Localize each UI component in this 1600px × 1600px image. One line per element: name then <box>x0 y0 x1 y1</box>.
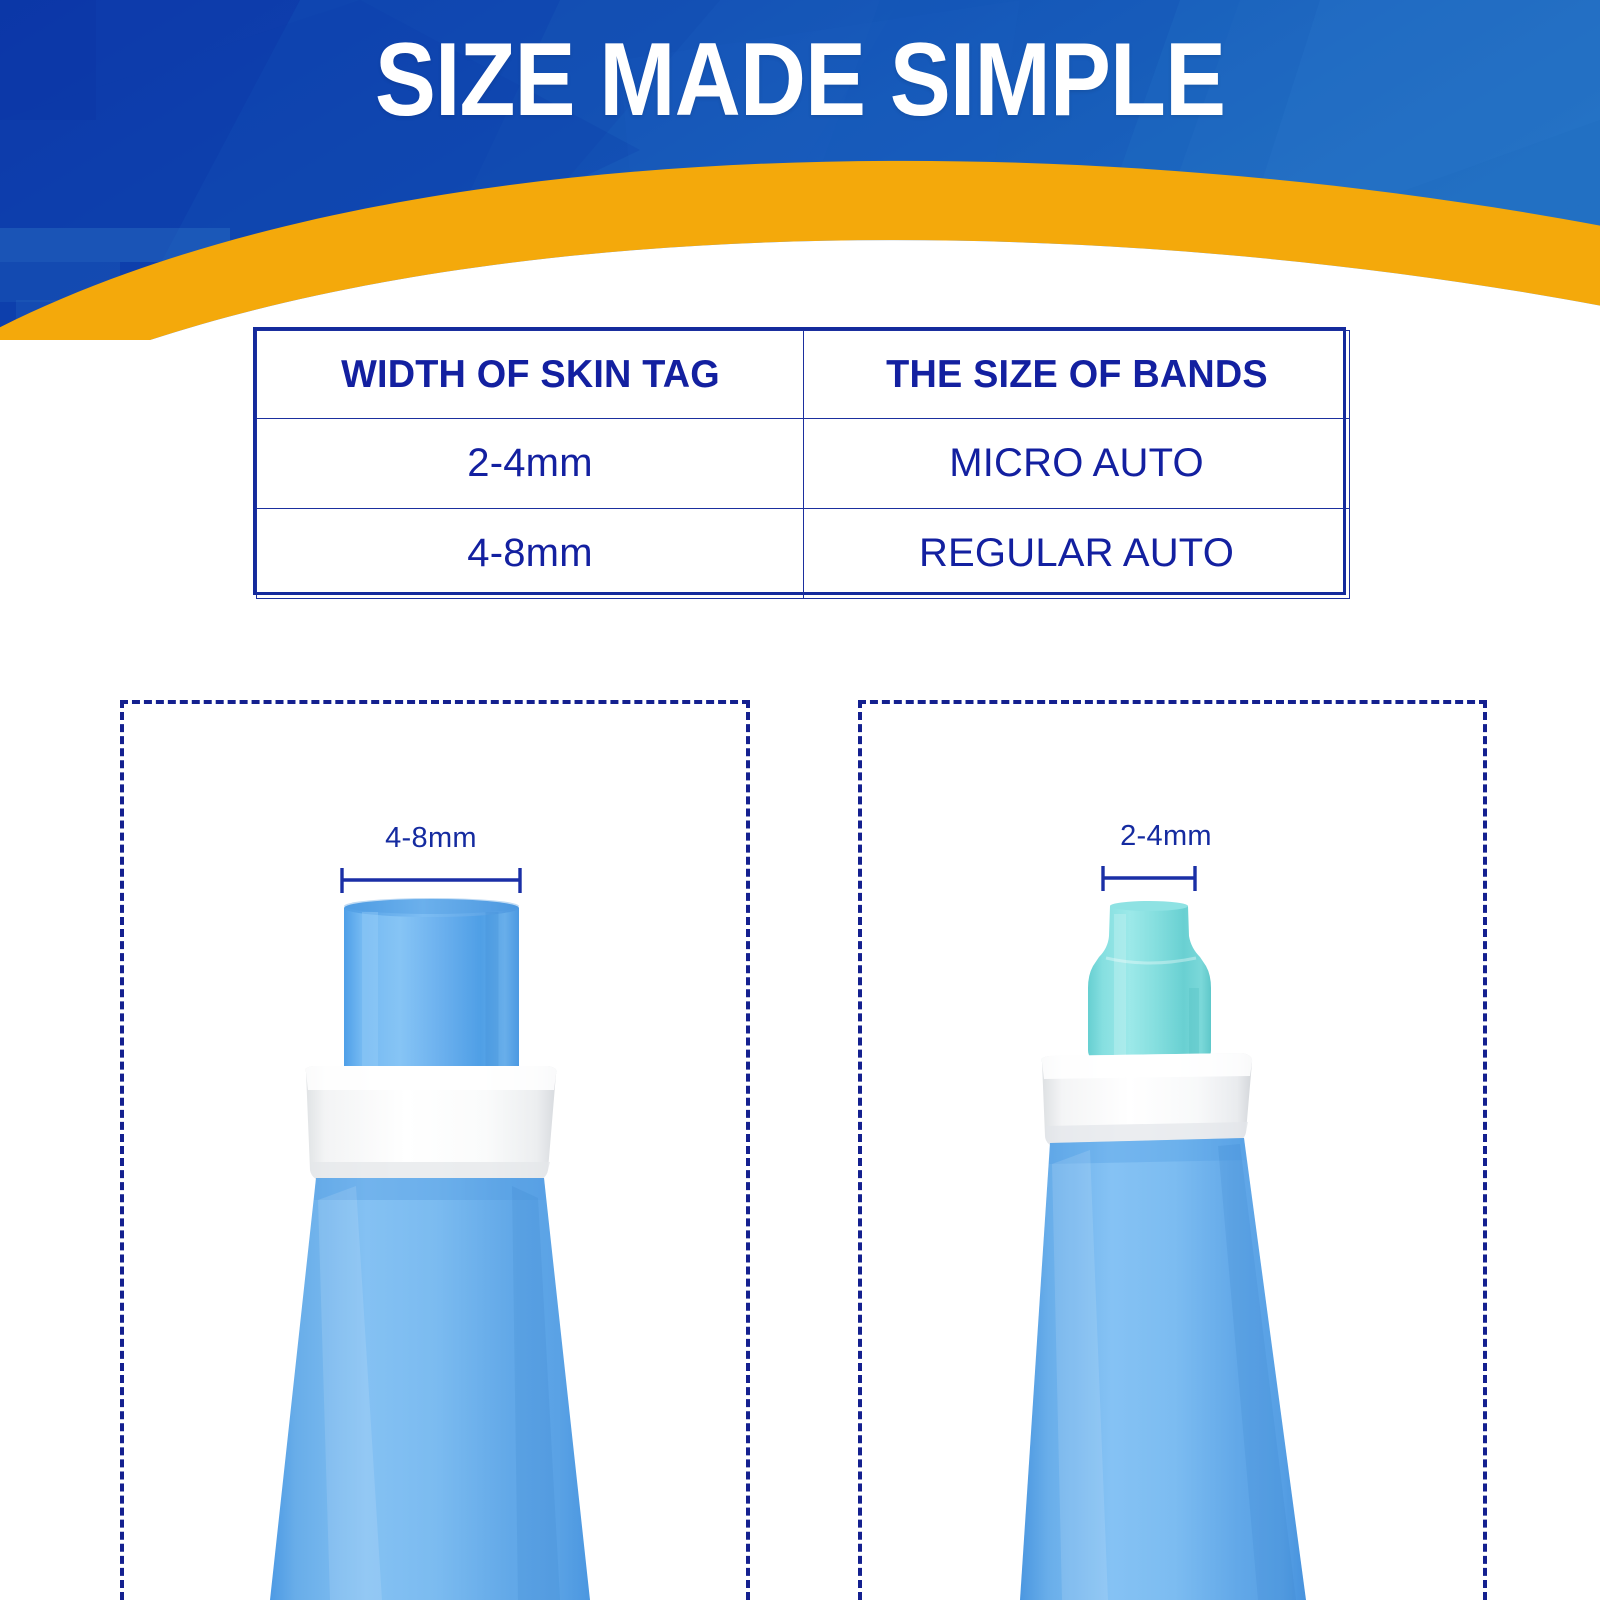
micro-band-tip <box>1088 901 1211 1062</box>
cell-width-regular: 4-8mm <box>257 509 804 599</box>
infographic-canvas: SIZE MADE SIMPLE WIDTH OF SKIN TAG THE S… <box>0 0 1600 1600</box>
micro-white-collar <box>1041 1053 1252 1149</box>
dimension-label-micro: 2-4mm <box>1066 820 1266 853</box>
table-row: 2-4mm MICRO AUTO <box>257 419 1350 509</box>
regular-band-tip <box>344 898 519 1082</box>
header-banner: SIZE MADE SIMPLE <box>0 0 1600 340</box>
column-header-width: WIDTH OF SKIN TAG <box>265 331 796 419</box>
table-row: 4-8mm REGULAR AUTO <box>257 509 1350 599</box>
dimension-line-regular <box>342 868 520 893</box>
dimension-label-regular: 4-8mm <box>331 822 531 855</box>
column-header-band: THE SIZE OF BANDS <box>812 331 1342 419</box>
cell-width-micro: 2-4mm <box>257 419 804 509</box>
regular-device-body <box>270 1178 590 1600</box>
cell-band-regular: REGULAR AUTO <box>804 509 1350 599</box>
dimension-line-micro <box>1103 866 1195 891</box>
micro-device-body <box>1020 1138 1306 1600</box>
size-chart-table: WIDTH OF SKIN TAG THE SIZE OF BANDS 2-4m… <box>253 327 1346 595</box>
table-header-row: WIDTH OF SKIN TAG THE SIZE OF BANDS <box>257 331 1350 419</box>
regular-white-collar <box>305 1066 557 1183</box>
page-title: SIZE MADE SIMPLE <box>96 26 1504 134</box>
cell-band-micro: MICRO AUTO <box>804 419 1350 509</box>
